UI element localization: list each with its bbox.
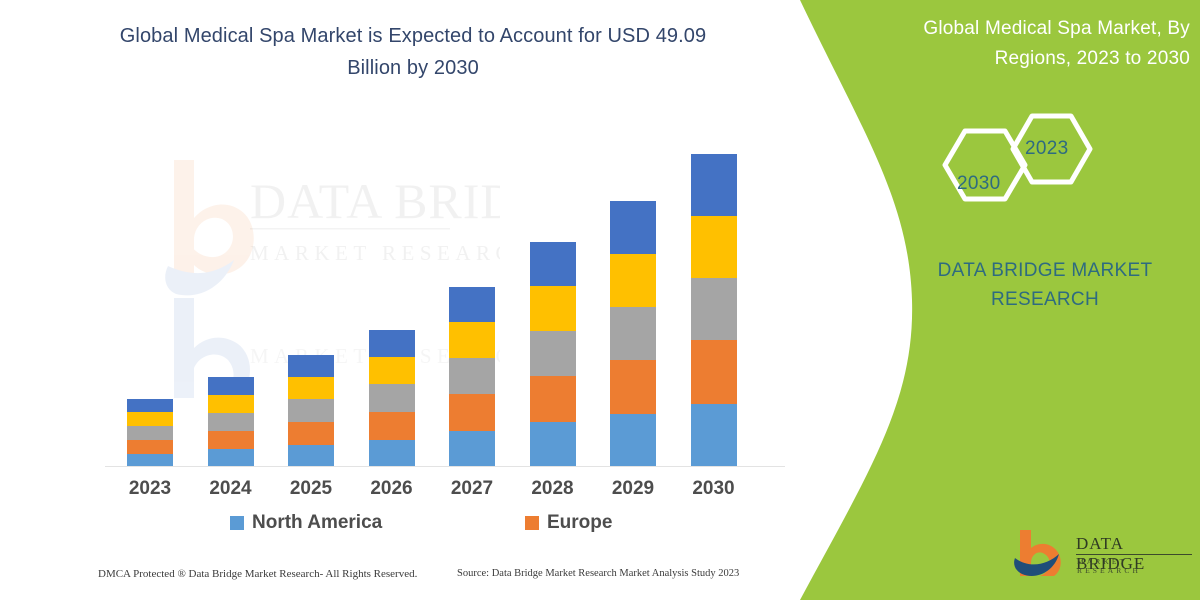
bar-segment-2028-series-4 [530,286,576,331]
x-axis-label-2025: 2025 [276,478,346,500]
bar-2026[interactable] [369,330,415,467]
bar-segment-2024-europe [208,431,254,449]
bar-segment-2029-series-3 [610,307,656,360]
bar-segment-2027-series-5 [449,287,495,322]
infographic-root: Global Medical Spa Market, By Regions, 2… [0,0,1200,600]
bar-segment-2023-europe [127,440,173,454]
logo-mark-icon [1014,528,1072,578]
footer-dmca-text: DMCA Protected ® Data Bridge Market Rese… [98,568,417,580]
bar-segment-2027-north-america [449,431,495,467]
bar-segment-2027-europe [449,394,495,431]
bar-segment-2026-series-4 [369,357,415,384]
x-axis-label-2026: 2026 [357,478,427,500]
x-axis-label-2029: 2029 [598,478,668,500]
footer-source-text: Source: Data Bridge Market Research Mark… [457,568,739,579]
bar-segment-2028-series-3 [530,331,576,376]
legend-item-europe[interactable]: Europe [525,512,612,534]
bar-segment-2030-series-5 [691,154,737,216]
legend-swatch-north-america [230,516,244,530]
bar-segment-2028-europe [530,376,576,422]
bar-segment-2029-europe [610,360,656,414]
bar-segment-2026-series-5 [369,330,415,357]
data-bridge-logo: DATA BRIDGE MARKET RESEARCH [1014,528,1194,580]
legend-label-europe: Europe [547,512,612,534]
bar-segment-2030-series-4 [691,216,737,278]
bar-segment-2030-europe [691,340,737,404]
bar-segment-2028-series-5 [530,242,576,286]
bar-segment-2023-series-3 [127,426,173,440]
bar-2027[interactable] [449,287,495,467]
bar-segment-2024-series-4 [208,395,254,413]
x-axis-label-2023: 2023 [115,478,185,500]
bar-segment-2030-series-3 [691,278,737,340]
bar-segment-2023-series-5 [127,399,173,412]
logo-tagline: MARKET RESEARCH [1077,557,1194,575]
bar-segment-2026-europe [369,412,415,440]
bar-segment-2025-series-3 [288,399,334,422]
bar-2025[interactable] [288,355,334,467]
x-axis-label-2030: 2030 [679,478,749,500]
bar-segment-2028-north-america [530,422,576,467]
x-axis-label-2024: 2024 [196,478,266,500]
bar-segment-2024-north-america [208,449,254,467]
bar-segment-2026-north-america [369,440,415,467]
bar-segment-2027-series-3 [449,358,495,394]
bar-segment-2024-series-5 [208,377,254,395]
bar-2030[interactable] [691,154,737,467]
bar-2024[interactable] [208,377,254,467]
legend-label-north-america: North America [252,512,382,534]
bar-segment-2027-series-4 [449,322,495,358]
bar-segment-2030-north-america [691,404,737,467]
bar-segment-2029-series-5 [610,201,656,254]
bar-segment-2029-series-4 [610,254,656,307]
bar-2029[interactable] [610,201,656,467]
bar-segment-2025-series-5 [288,355,334,377]
bar-chart-plot [0,0,1200,467]
legend-item-north-america[interactable]: North America [230,512,382,534]
bar-segment-2025-series-4 [288,377,334,399]
bar-2028[interactable] [530,242,576,467]
chart-baseline [105,466,785,467]
bar-segment-2025-europe [288,422,334,445]
x-axis-label-2028: 2028 [518,478,588,500]
bar-2023[interactable] [127,399,173,467]
bar-segment-2023-series-4 [127,412,173,426]
bar-segment-2024-series-3 [208,413,254,431]
legend-swatch-europe [525,516,539,530]
bar-segment-2026-series-3 [369,384,415,412]
x-axis-label-2027: 2027 [437,478,507,500]
bar-segment-2029-north-america [610,414,656,467]
logo-divider [1076,554,1192,555]
bar-segment-2025-north-america [288,445,334,467]
chart-legend: North America Europe [230,512,650,538]
